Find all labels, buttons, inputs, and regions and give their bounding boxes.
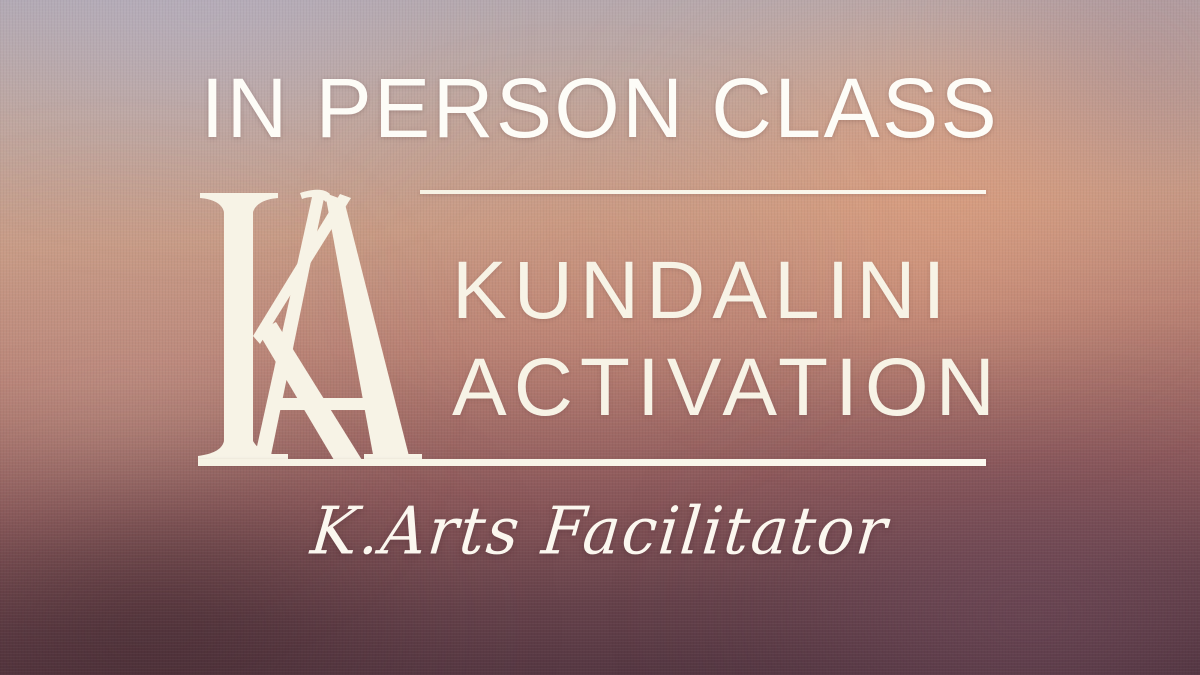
poster-content: IN PERSON CLASS [0, 0, 1200, 675]
divider-bottom [198, 459, 986, 466]
page-title: IN PERSON CLASS [0, 66, 1200, 150]
tagline-text: K.Arts Facilitator [308, 492, 893, 569]
tagline: K.Arts Facilitator [0, 494, 1200, 567]
wordmark-line-kundalini: KUNDALINI [452, 242, 1002, 339]
monogram-glyphs [198, 190, 422, 462]
poster-canvas: IN PERSON CLASS [0, 0, 1200, 675]
logo-wordmark: KUNDALINI ACTIVATION [452, 242, 1002, 436]
logo-monogram-ka [192, 186, 464, 471]
wordmark-line-activation: ACTIVATION [452, 339, 1002, 436]
divider-top [420, 190, 986, 194]
